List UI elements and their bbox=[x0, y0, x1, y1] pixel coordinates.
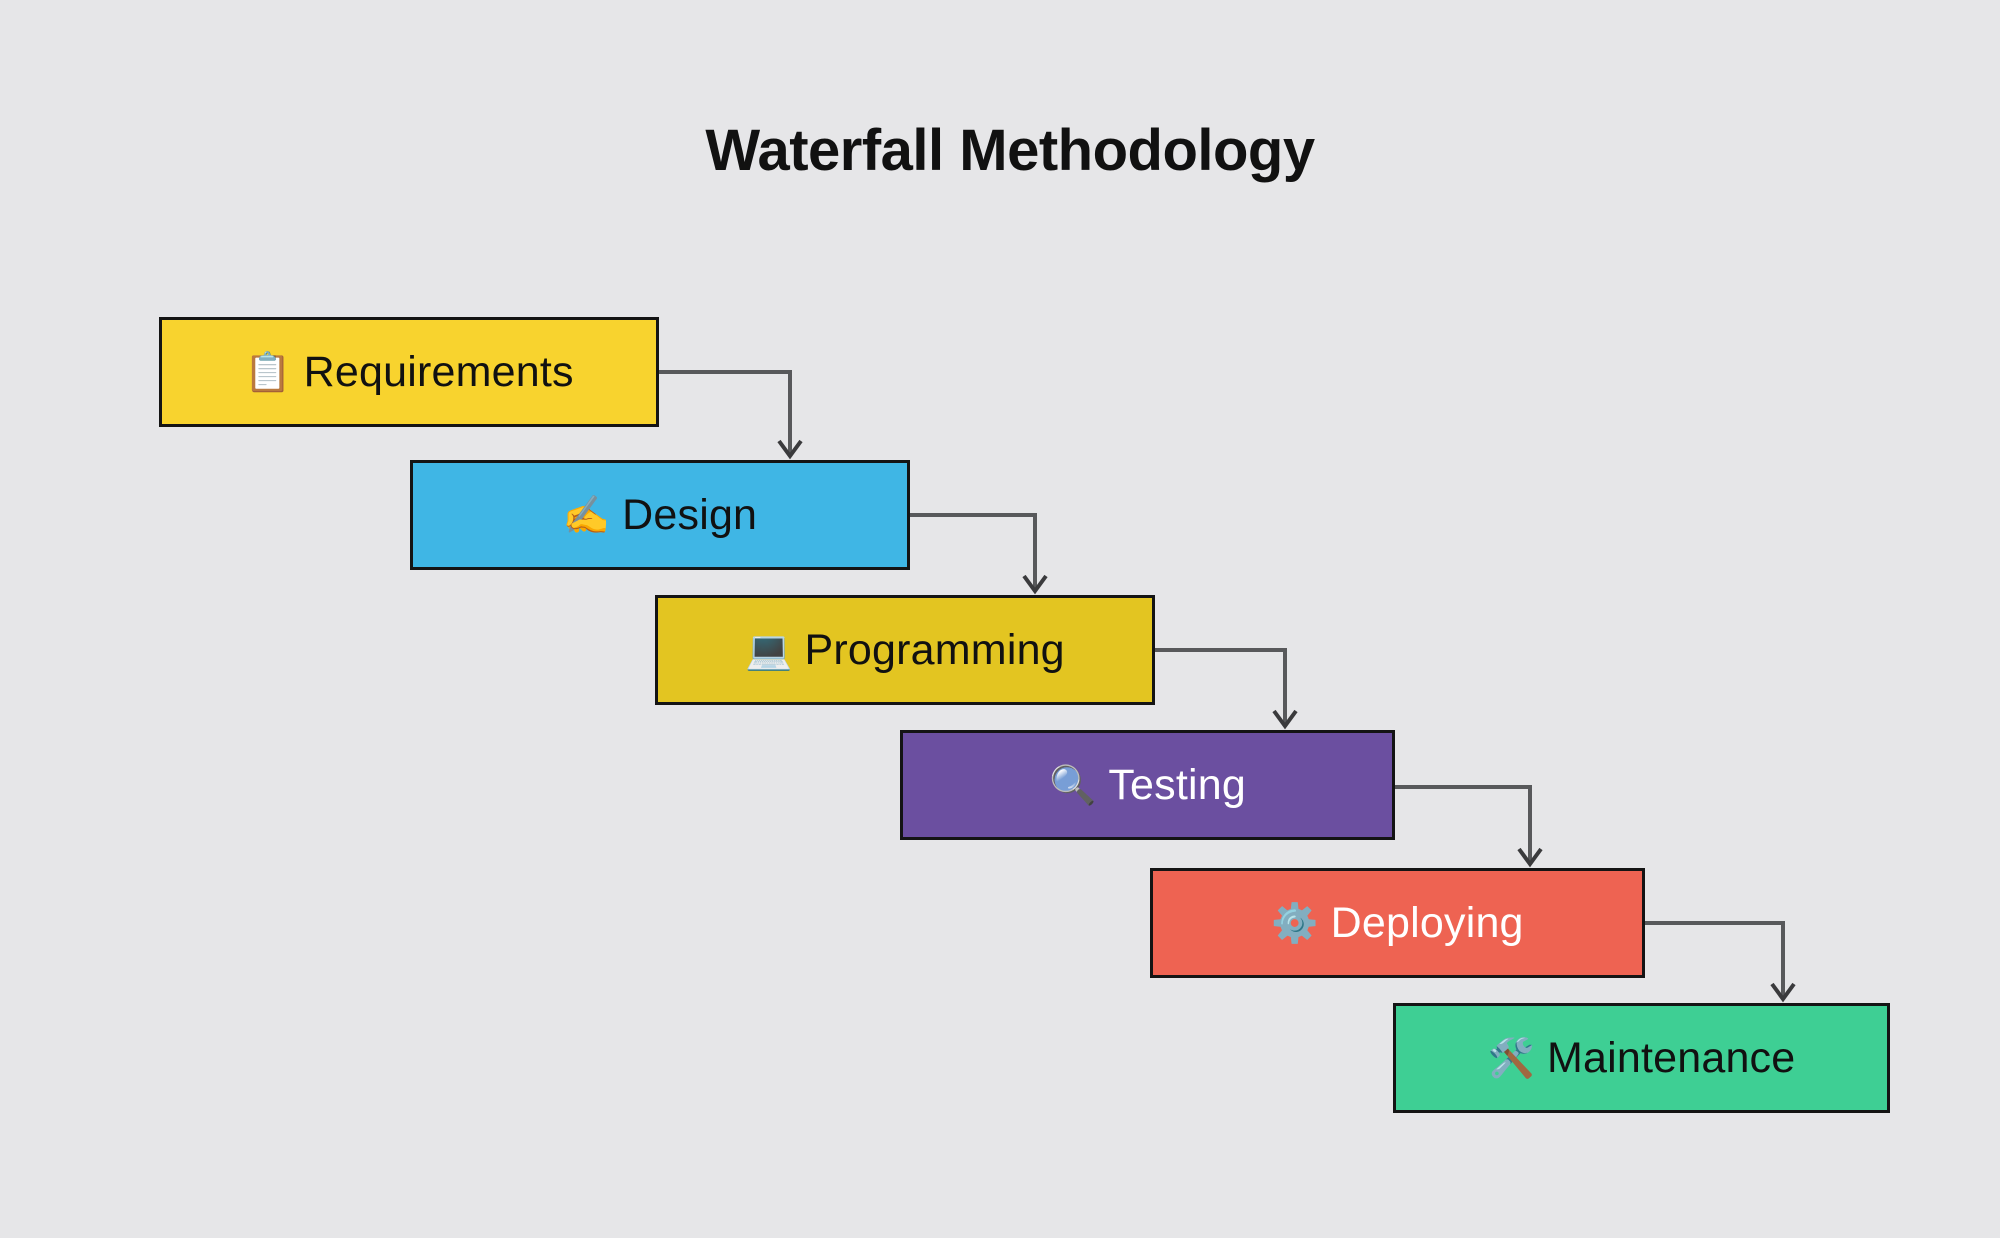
stage-box-maintenance[interactable]: 🛠️Maintenance bbox=[1393, 1003, 1890, 1113]
stage-label-requirements: Requirements bbox=[304, 351, 574, 394]
stage-label-maintenance: Maintenance bbox=[1547, 1037, 1795, 1080]
hammer-and-wrench-icon: 🛠️ bbox=[1488, 1040, 1535, 1078]
page-title: Waterfall Methodology bbox=[0, 122, 2000, 180]
connector-programming-to-testing bbox=[1155, 650, 1296, 726]
stage-box-testing[interactable]: 🔍Testing bbox=[900, 730, 1395, 840]
stage-label-design: Design bbox=[622, 494, 757, 537]
clipboard-icon: 📋 bbox=[244, 354, 291, 392]
stage-box-deploying[interactable]: ⚙️Deploying bbox=[1150, 868, 1645, 978]
connector-deploying-to-maintenance bbox=[1645, 923, 1794, 999]
stage-label-programming: Programming bbox=[805, 629, 1065, 672]
stage-box-programming[interactable]: 💻Programming bbox=[655, 595, 1155, 705]
stage-box-requirements[interactable]: 📋Requirements bbox=[159, 317, 659, 427]
page-title-text: Waterfall Methodology bbox=[705, 122, 1314, 180]
stage-box-design[interactable]: ✍️Design bbox=[410, 460, 910, 570]
stage-label-deploying: Deploying bbox=[1331, 902, 1524, 945]
stage-label-testing: Testing bbox=[1108, 764, 1246, 807]
connector-design-to-programming bbox=[910, 515, 1046, 591]
gear-icon: ⚙️ bbox=[1271, 905, 1318, 943]
magnifying-glass-icon: 🔍 bbox=[1049, 767, 1096, 805]
writing-hand-icon: ✍️ bbox=[563, 497, 610, 535]
connector-testing-to-deploying bbox=[1395, 787, 1541, 864]
diagram-canvas: Waterfall Methodology 📋Requirements✍️Des… bbox=[0, 0, 2000, 1238]
connector-requirements-to-design bbox=[659, 372, 801, 456]
laptop-icon: 💻 bbox=[745, 632, 792, 670]
